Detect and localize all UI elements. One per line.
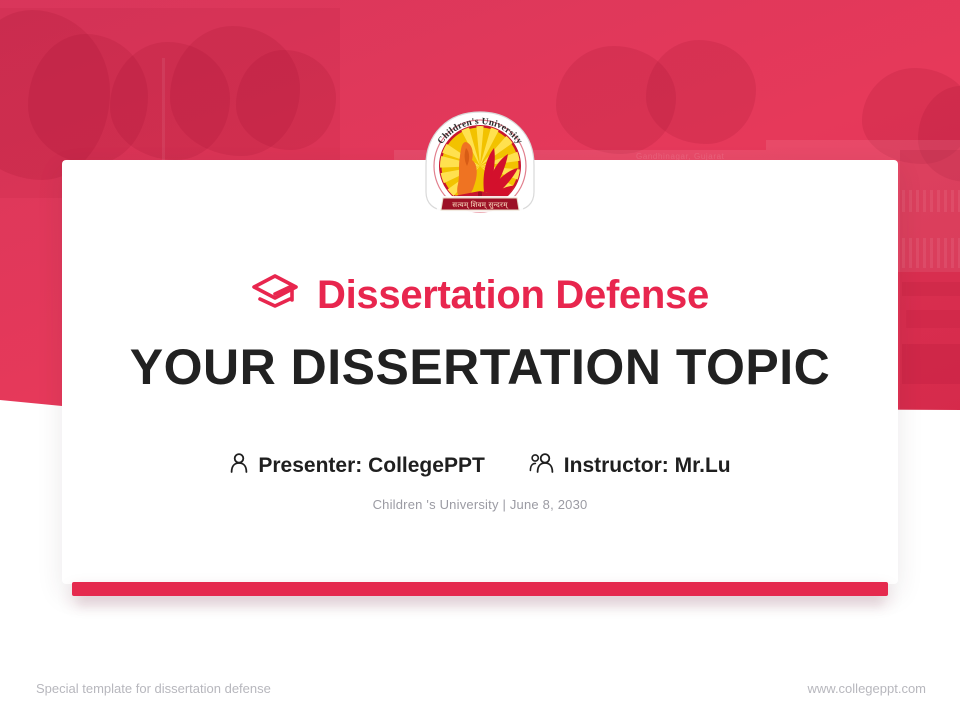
presenter-item: Presenter: CollegePPT	[229, 452, 484, 480]
footer-website[interactable]: www.collegeppt.com	[808, 681, 927, 696]
slide-meta: Children 's University | June 8, 2030	[0, 497, 960, 512]
building-window-row	[902, 238, 960, 268]
card-accent-bar	[72, 582, 888, 596]
presenter-label: Presenter: CollegePPT	[258, 454, 484, 478]
slide-headline: YOUR DISSERTATION TOPIC	[0, 340, 960, 394]
people-row: Presenter: CollegePPT Instructor: Mr.Lu	[0, 452, 960, 480]
emblem-banner-text: सत्यम् शिवम् सुन्दरम्	[452, 200, 508, 209]
graduation-cap-icon	[251, 272, 299, 317]
footer-note: Special template for dissertation defens…	[36, 681, 271, 696]
instructor-item: Instructor: Mr.Lu	[529, 452, 731, 480]
building-window-row	[902, 190, 960, 212]
users-icon	[529, 452, 555, 480]
tree-shape	[646, 40, 756, 144]
university-emblem: Children's University	[416, 108, 544, 224]
instructor-label: Instructor: Mr.Lu	[564, 454, 731, 478]
slide-canvas: CHILDREN'S UNIVERSITY EST. 2009 शिशु विश…	[0, 0, 960, 720]
eyebrow-title: Dissertation Defense	[317, 275, 709, 315]
eyebrow-row: Dissertation Defense	[0, 272, 960, 317]
user-icon	[229, 452, 249, 480]
card-shadow	[78, 596, 882, 612]
